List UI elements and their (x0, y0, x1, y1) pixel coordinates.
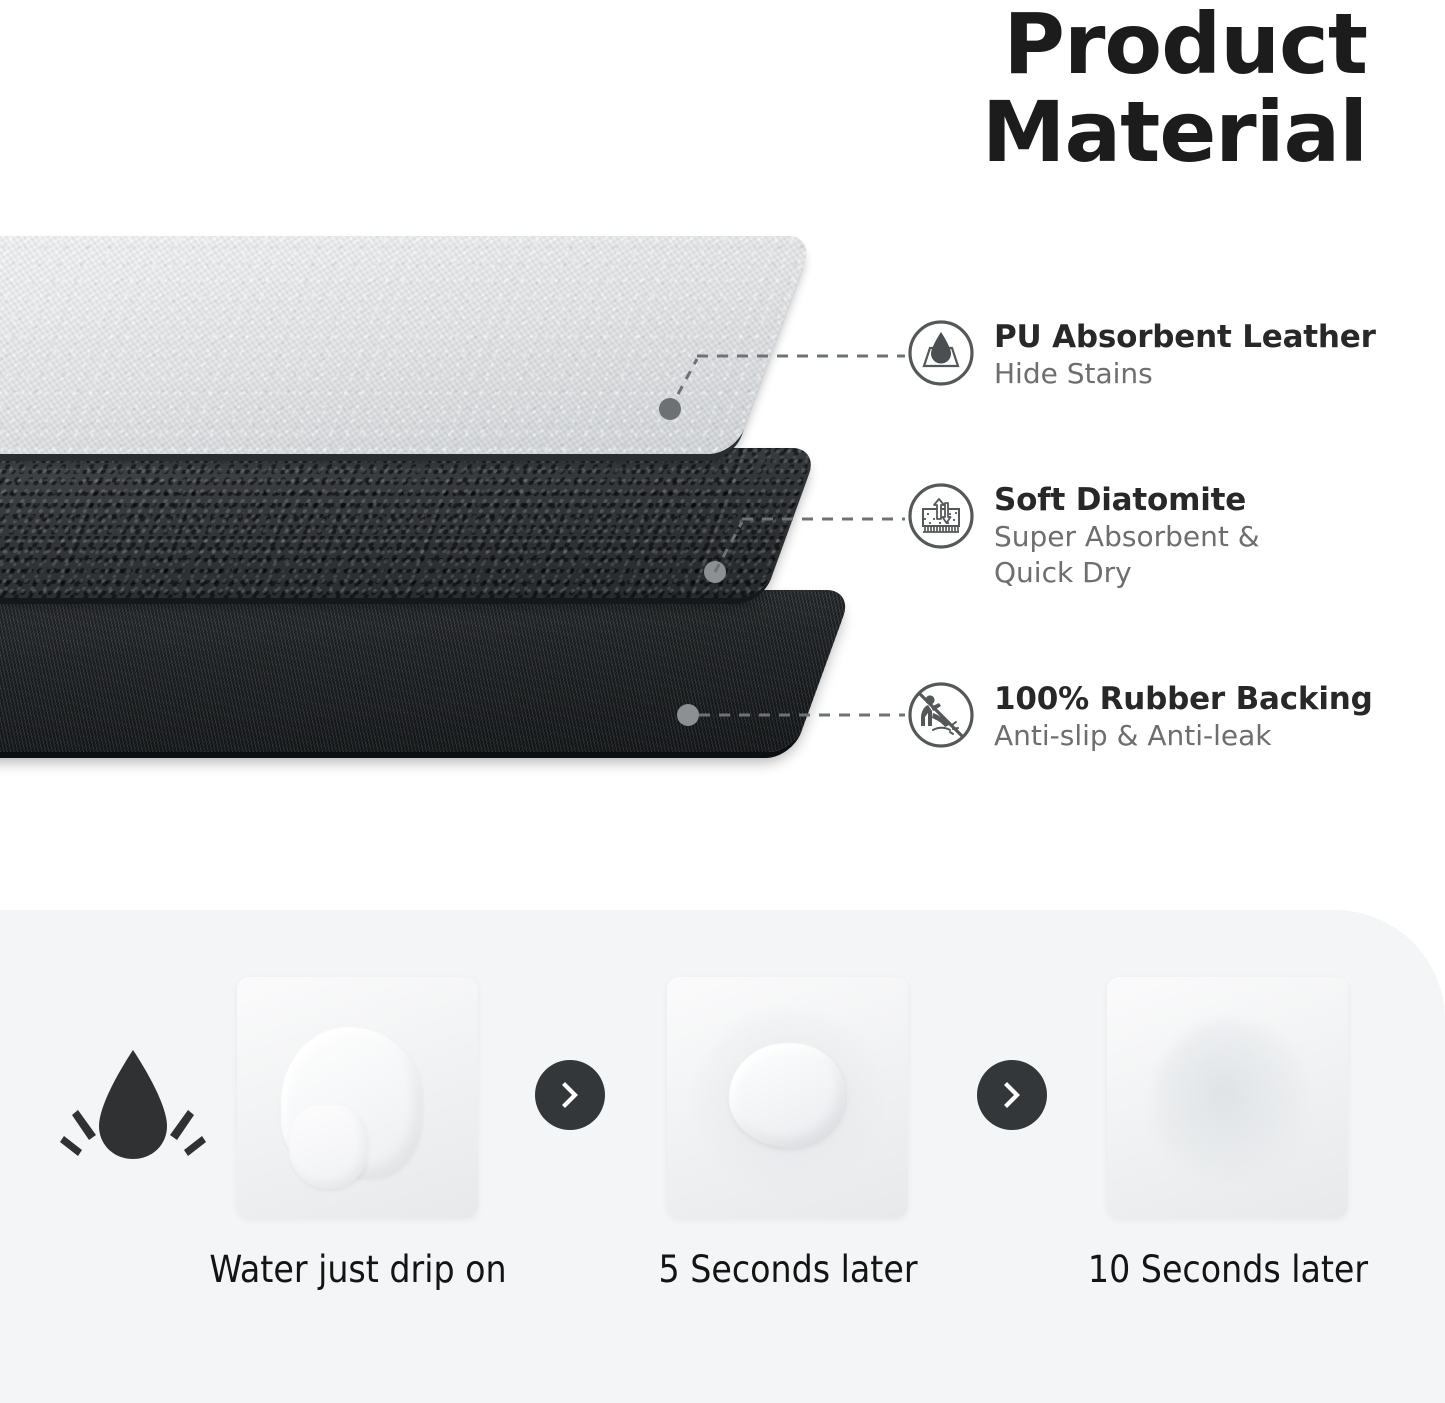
water-puddle-fresh-tail (289, 1105, 367, 1189)
mat-layer-illustration (0, 236, 860, 766)
absorption-photo-step-3 (1107, 977, 1348, 1218)
chevron-right-icon (555, 1080, 585, 1110)
no-slipping-icon (906, 680, 976, 750)
page-title-line-2: Material (667, 88, 1367, 176)
rubber-backing-texture (0, 590, 853, 752)
porous-diatomite-absorb-icon (906, 481, 976, 551)
feature-soft-diatomite: Soft Diatomite Super Absorbent & Quick D… (906, 479, 1260, 591)
water-bead-5s (729, 1043, 845, 1147)
feature-pu-absorbent-leather: PU Absorbent Leather Hide Stains (906, 316, 1376, 392)
step-caption-1: Water just drip on (158, 1247, 558, 1293)
page-title-line-1: Product (667, 0, 1367, 88)
feature-text-rubber: 100% Rubber Backing Anti-slip & Anti-lea… (994, 678, 1373, 754)
step-arrow-2[interactable] (977, 1060, 1047, 1130)
feature-subtitle-diatomite: Super Absorbent & Quick Dry (994, 519, 1260, 591)
feature-title-diatomite: Soft Diatomite (994, 481, 1260, 519)
feature-text-pu: PU Absorbent Leather Hide Stains (994, 316, 1376, 392)
water-splash-drop-icon (48, 1042, 218, 1192)
step-caption-3: 10 Seconds later (1028, 1247, 1428, 1293)
rubber-backing-layer (0, 590, 853, 752)
step-arrow-1[interactable] (535, 1060, 605, 1130)
absorbed-damp-shadow-10s (1155, 1021, 1305, 1177)
feature-text-diatomite: Soft Diatomite Super Absorbent & Quick D… (994, 479, 1260, 591)
absorption-photo-step-2 (667, 977, 908, 1218)
feature-rubber-backing: 100% Rubber Backing Anti-slip & Anti-lea… (906, 678, 1373, 754)
feature-subtitle-rubber: Anti-slip & Anti-leak (994, 718, 1373, 754)
diatomite-texture (0, 448, 819, 598)
soft-diatomite-layer (0, 448, 819, 598)
pu-leather-texture (0, 236, 814, 454)
feature-subtitle-pu: Hide Stains (994, 356, 1376, 392)
water-drop-on-surface-icon (906, 318, 976, 388)
pu-absorbent-leather-layer (0, 236, 814, 454)
feature-title-rubber: 100% Rubber Backing (994, 680, 1373, 718)
step-caption-2: 5 Seconds later (588, 1247, 988, 1293)
page-title: Product Material (667, 0, 1367, 176)
absorption-photo-step-1 (237, 977, 478, 1218)
chevron-right-icon (997, 1080, 1027, 1110)
feature-title-pu: PU Absorbent Leather (994, 318, 1376, 356)
